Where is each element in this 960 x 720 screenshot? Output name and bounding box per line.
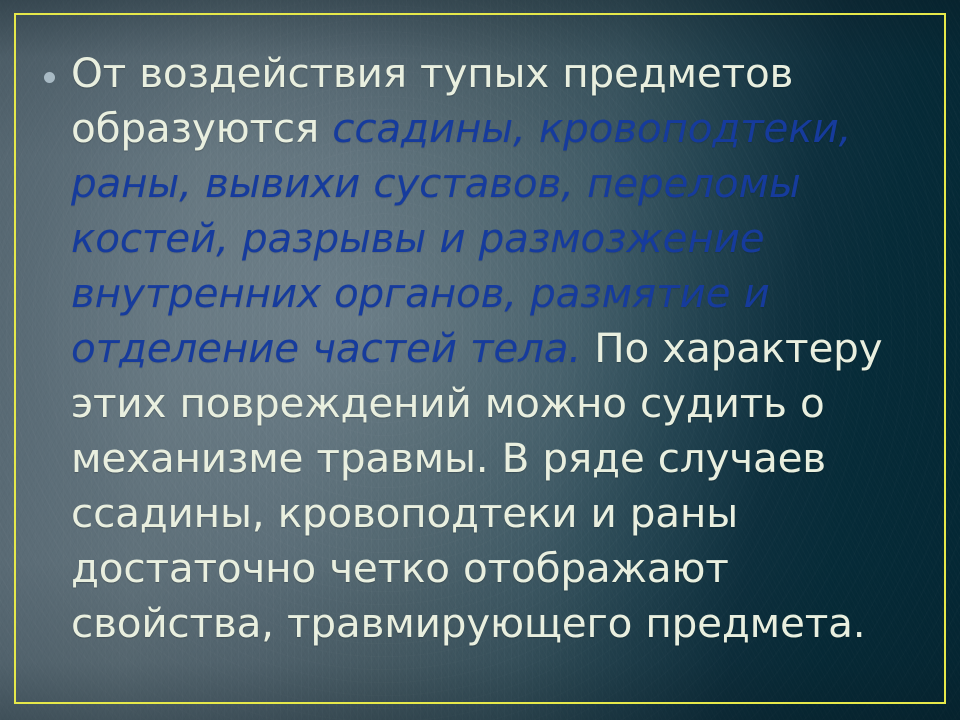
presentation-slide: От воздействия тупых предметов образуютс… xyxy=(0,0,960,720)
bullet-list-item: От воздействия тупых предметов образуютс… xyxy=(36,46,926,651)
body-paragraph: От воздействия тупых предметов образуютс… xyxy=(71,46,926,651)
slide-content-area: От воздействия тупых предметов образуютс… xyxy=(36,46,926,660)
body-segment-conclusion: По характеру этих повреждений можно суди… xyxy=(71,324,882,647)
bullet-point-icon xyxy=(44,72,55,83)
